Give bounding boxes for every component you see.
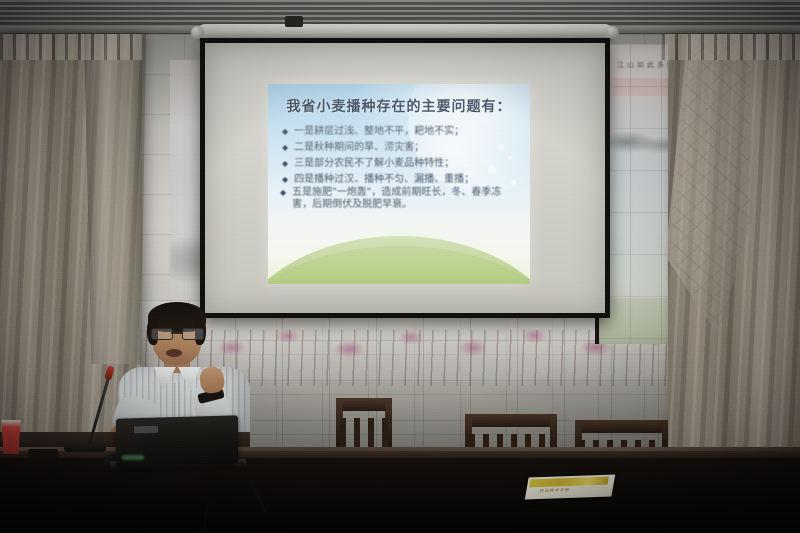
diamond-bullet-icon: ◆	[282, 126, 288, 138]
chair-top-rail	[575, 420, 669, 433]
chair-top-rail	[465, 414, 557, 427]
glasses-bridge	[171, 332, 182, 334]
glasses-lens-right	[182, 328, 204, 340]
presenter-mouth	[166, 349, 182, 357]
glasses-icon	[150, 328, 204, 338]
photograph-scene: 江山如此多娇	[0, 0, 800, 533]
chair-top-rail	[336, 398, 392, 411]
slide-bullet-text: 五是施肥"一炮轰"，造成前期旺长，冬、春季冻害，后期倒伏及脱肥早衰。	[292, 187, 518, 211]
slide-title: 我省小麦播种存在的主要问题有：	[268, 96, 530, 116]
slide-bullet-text: 三是部分农民不了解小麦品种特性；	[294, 158, 454, 170]
glasses-lens-left	[151, 328, 173, 340]
slide-bullet-item: ◆ 二是秋种期间的旱、涝灾害；	[282, 142, 518, 154]
slide-bullet-list: ◆ 一是耕层过浅、整地不平，耙地不实； ◆ 二是秋种期间的旱、涝灾害； ◆ 三是…	[282, 126, 518, 215]
screen-ceiling-mount	[285, 16, 303, 27]
table-front-panel	[0, 458, 800, 533]
slide-bullet-text: 二是秋种期间的旱、涝灾害；	[294, 142, 424, 154]
slide-bullet-item: ◆ 三是部分农民不了解小麦品种特性；	[282, 158, 518, 170]
curtain-right-pleats	[662, 34, 800, 60]
slide-bullet-text: 四是播种过汉、播种不匀、漏播、重播；	[294, 174, 474, 186]
curtain-left-pleats	[0, 34, 142, 60]
phone-on-desk	[28, 449, 58, 458]
slide-bullet-item: ◆ 五是施肥"一炮轰"，造成前期旺长，冬、春季冻害，后期倒伏及脱肥早衰。	[282, 187, 518, 211]
diamond-bullet-icon: ◆	[282, 158, 288, 170]
slide-green-arc-front	[268, 236, 530, 284]
slide-bullet-text: 一是耕层过浅、整地不平，耙地不实；	[294, 126, 464, 138]
slide-bullet-item: ◆ 四是播种过汉、播种不匀、漏播、重播；	[282, 174, 518, 186]
laptop-indicator-light	[122, 455, 144, 460]
diamond-bullet-icon: ◆	[282, 142, 288, 154]
paper-cup	[0, 420, 22, 454]
slide-bullet-item: ◆ 一是耕层过浅、整地不平，耙地不实；	[282, 126, 518, 138]
diamond-bullet-icon: ◆	[282, 174, 288, 186]
laptop-logo	[134, 426, 158, 434]
diamond-bullet-icon: ◆	[280, 187, 286, 199]
chair	[336, 398, 392, 454]
projected-slide: 我省小麦播种存在的主要问题有： ◆ 一是耕层过浅、整地不平，耙地不实； ◆ 二是…	[268, 84, 530, 284]
microphone-base	[64, 440, 106, 452]
